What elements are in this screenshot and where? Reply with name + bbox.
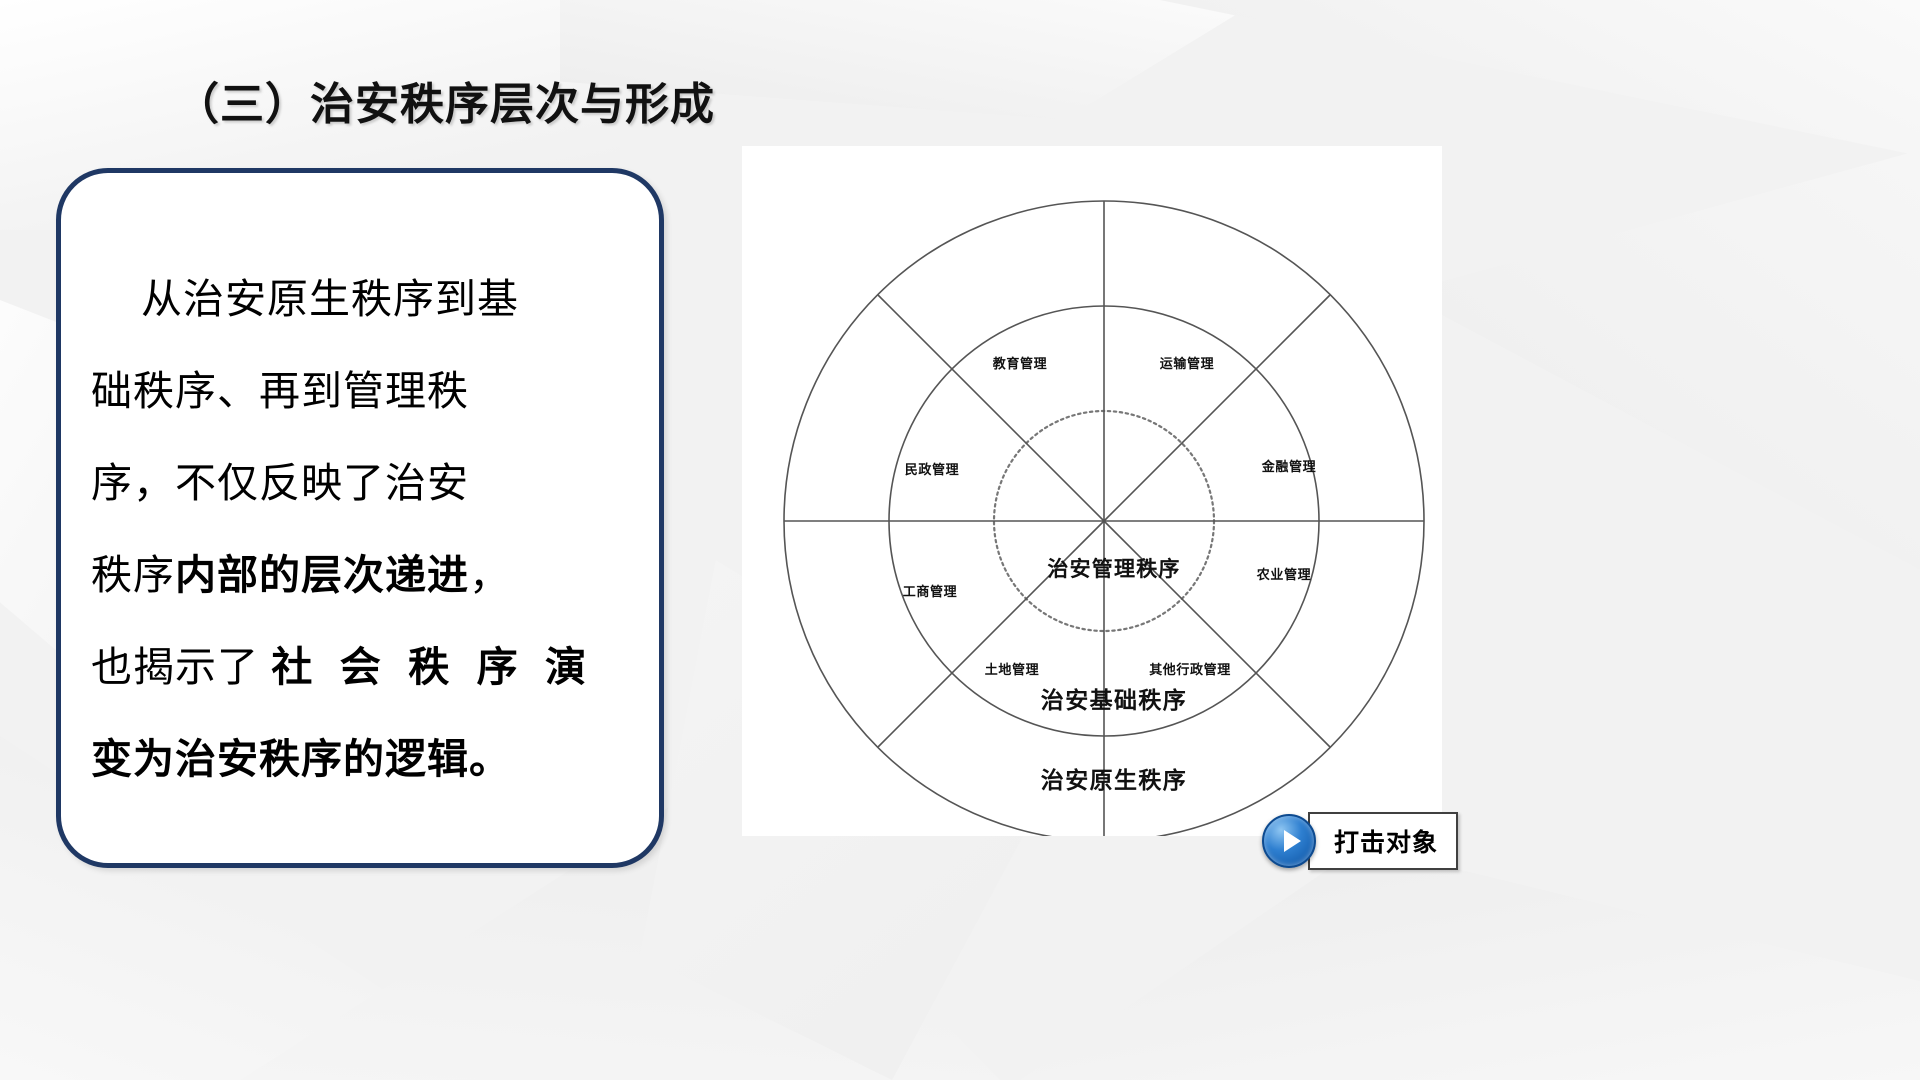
sector-label-commerce: 工商管理 [903,584,957,600]
ring-label-primary-order: 治安原生秩序 [1041,767,1187,794]
description-line-3-plain: 序，不仅反映了治安 [91,460,469,506]
sector-label-land: 土地管理 [985,662,1039,678]
sector-label-civil-affairs: 民政管理 [905,462,959,478]
description-line-3: 序，不仅反映了治安 [91,437,637,529]
background-shard-4 [1400,150,1920,570]
description-line-5-plain: 也揭示了 [91,644,271,690]
play-icon[interactable] [1262,814,1316,868]
description-line-1: 从治安原生秩序到基 [91,253,637,345]
description-line-1-plain: 从治安原生秩序到基 [141,276,519,322]
diagram-svg: 教育管理 运输管理 金融管理 农业管理 其他行政管理 土地管理 工商管理 民政管… [742,146,1442,836]
sector-label-agriculture: 农业管理 [1256,567,1311,583]
sector-label-transport: 运输管理 [1160,356,1214,372]
description-line-6: 变为治安秩序的逻辑。 [91,713,637,805]
spoke-nw [878,295,1104,521]
page-title: （三）治安秩序层次与形成 [175,68,715,132]
sector-label-other-admin: 其他行政管理 [1149,662,1231,678]
description-panel: 从治安原生秩序到基 础秩序、再到管理秩 序，不仅反映了治安 秩序内部的层次递进，… [56,168,664,868]
description-line-4-bold: 内部的层次递进 [175,552,469,598]
ring-label-management-order: 治安管理秩序 [1047,557,1180,581]
description-text: 从治安原生秩序到基 础秩序、再到管理秩 序，不仅反映了治安 秩序内部的层次递进，… [91,253,637,805]
description-line-4-tail: ， [469,552,511,598]
description-line-2: 础秩序、再到管理秩 [91,345,637,437]
target-object-label[interactable]: 打击对象 [1308,812,1458,870]
description-line-2-plain: 础秩序、再到管理秩 [91,368,469,414]
sector-label-education: 教育管理 [992,356,1047,372]
description-line-4-plain: 秩序 [91,552,175,598]
ring-label-basic-order: 治安基础秩序 [1041,687,1187,714]
background-shard-7 [1020,820,1920,1080]
sector-label-finance: 金融管理 [1261,459,1316,475]
order-hierarchy-diagram: 教育管理 运输管理 金融管理 农业管理 其他行政管理 土地管理 工商管理 民政管… [742,146,1442,836]
description-line-4: 秩序内部的层次递进， [91,529,637,621]
slide-canvas: （三）治安秩序层次与形成 从治安原生秩序到基 础秩序、再到管理秩 序，不仅反映了… [0,0,1920,1080]
description-line-5-bold: 社 会 秩 序 演 [271,644,594,690]
spoke-ne [1104,295,1330,521]
description-line-5: 也揭示了 社 会 秩 序 演 [91,621,637,713]
description-line-6-bold: 变为治安秩序的逻辑。 [91,736,511,782]
target-object-button[interactable]: 打击对象 [1262,812,1458,870]
